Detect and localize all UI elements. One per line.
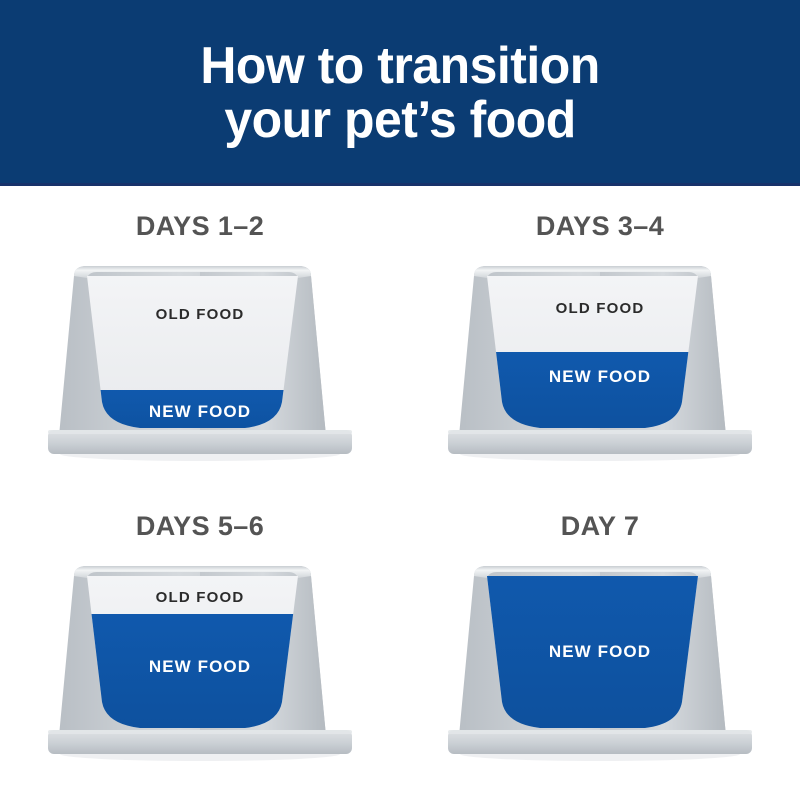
step-days-5-6: DAYS 5–6: [0, 486, 400, 786]
bowl-svg: [40, 254, 360, 469]
infographic-page: How to transition your pet’s food DAYS 1…: [0, 0, 800, 800]
bowl-graphic: OLD FOOD NEW FOOD: [40, 554, 360, 769]
step-title: DAYS 5–6: [136, 513, 264, 540]
step-title: DAY 7: [561, 513, 640, 540]
step-days-3-4: DAYS 3–4: [400, 186, 800, 486]
bowl-svg: [440, 254, 760, 469]
bowl-svg: [440, 554, 760, 769]
steps-grid: DAYS 1–2: [0, 186, 800, 800]
headline-line-2: your pet’s food: [224, 93, 575, 147]
bowl-svg: [40, 554, 360, 769]
step-title: DAYS 1–2: [136, 213, 264, 240]
bowl-graphic: NEW FOOD: [440, 554, 760, 769]
header-banner: How to transition your pet’s food: [0, 0, 800, 186]
step-day-7: DAY 7: [400, 486, 800, 786]
headline-line-1: How to transition: [200, 39, 599, 93]
bowl-graphic: OLD FOOD NEW FOOD: [440, 254, 760, 469]
step-days-1-2: DAYS 1–2: [0, 186, 400, 486]
step-title: DAYS 3–4: [536, 213, 664, 240]
bowl-graphic: OLD FOOD NEW FOOD: [40, 254, 360, 469]
